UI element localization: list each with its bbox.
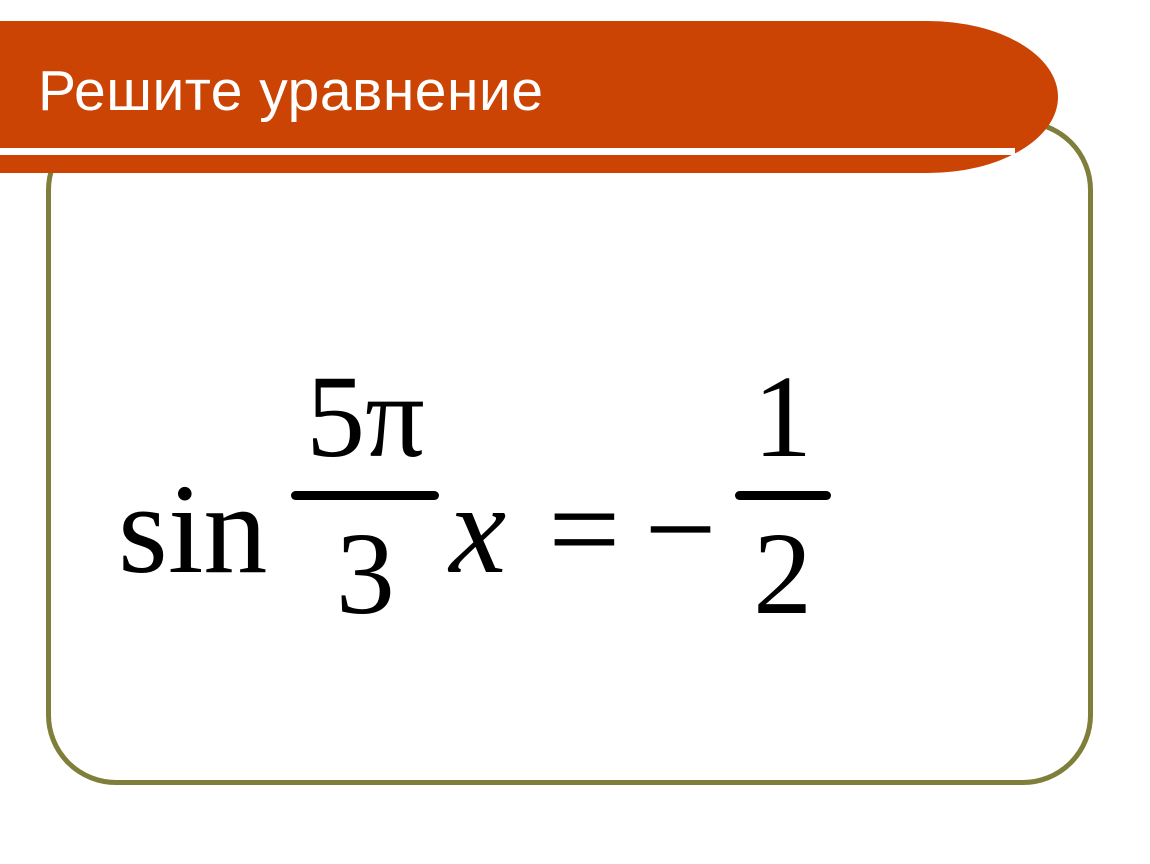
equation-display: sin 5π 3 x = − 1 2	[118, 340, 958, 650]
equation-minus-sign: −	[644, 465, 716, 593]
page-title: Решите уравнение	[38, 63, 544, 120]
left-fraction-numerator: 5π	[300, 353, 431, 480]
equation-variable-x: x	[449, 465, 506, 593]
left-fraction-denominator: 3	[330, 510, 401, 637]
title-banner: Решите уравнение	[0, 21, 1058, 173]
title-divider	[0, 148, 1015, 155]
right-fraction-denominator: 2	[747, 510, 818, 637]
equation-function-sin: sin	[118, 465, 267, 593]
equation-right-fraction: 1 2	[735, 353, 831, 637]
right-fraction-bar	[735, 491, 831, 500]
equation-left-fraction: 5π 3	[291, 353, 439, 637]
right-fraction-numerator: 1	[747, 353, 818, 480]
slide: Решите уравнение sin 5π 3 x = − 1 2	[0, 0, 1150, 864]
equation-equals-sign: =	[548, 465, 620, 593]
left-fraction-bar	[291, 491, 439, 500]
